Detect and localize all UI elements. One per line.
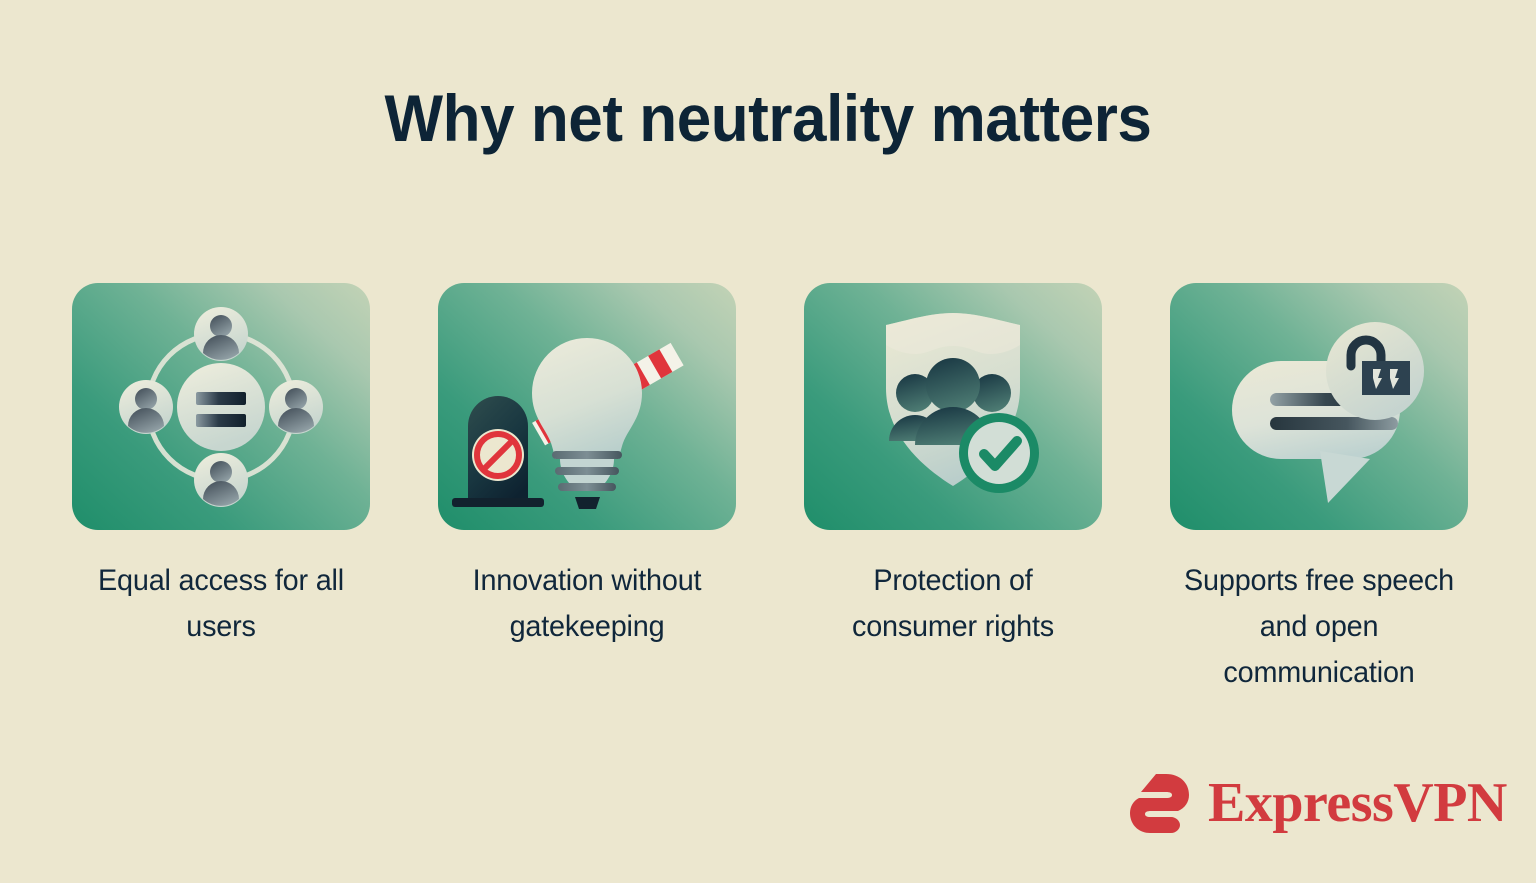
benefit-card-free-speech: Supports free speech and open communicat… [1170,283,1468,703]
benefit-card-caption: Equal access for all users [78,558,364,650]
expressvpn-logo[interactable]: ExpressVPN [1128,772,1507,834]
page-title: Why net neutrality matters [46,82,1490,155]
benefit-card-tile [1170,283,1468,530]
expressvpn-e-mark [1128,772,1194,834]
benefit-card-tile [72,283,370,530]
benefit-card-caption: Protection of consumer rights [810,558,1096,650]
benefit-card-protection: Protection of consumer rights [804,283,1102,703]
barrier-gate-lightbulb-icon [438,283,736,530]
speech-bubble-open-padlock-icon [1170,283,1468,530]
benefit-card-caption: Innovation without gatekeeping [444,558,730,650]
shield-people-check-icon [804,283,1102,530]
benefit-card-tile [804,283,1102,530]
benefit-cards-row: Equal access for all users [72,283,1468,703]
benefit-card-innovation: Innovation without gatekeeping [438,283,736,703]
benefit-card-tile [438,283,736,530]
infographic-canvas: Why net neutrality matters [0,0,1536,883]
benefit-card-equal-access: Equal access for all users [72,283,370,703]
expressvpn-wordmark: ExpressVPN [1208,775,1507,831]
benefit-card-caption: Supports free speech and open communicat… [1176,558,1462,696]
equal-access-network-icon [72,283,370,530]
